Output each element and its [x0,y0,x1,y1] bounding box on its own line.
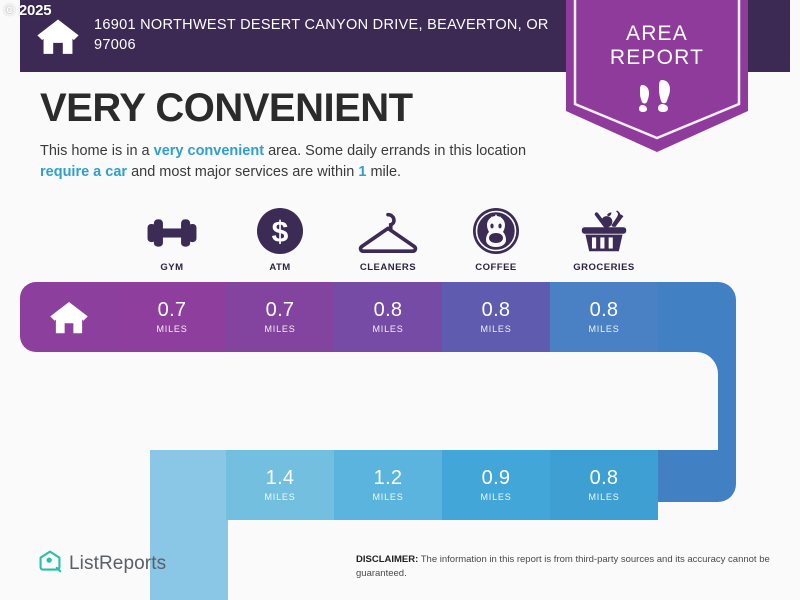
description-text: This home is in a very convenient area. … [40,141,570,184]
badge-line-2: REPORT [610,46,704,70]
property-address: 16901 NORTHWEST DESERT CANYON DRIVE, BEA… [94,16,554,55]
amenity-label: GROCERIES [573,262,635,273]
home-icon [36,14,80,58]
distance-unit: MILES [372,492,403,502]
listreports-logo-icon [38,549,62,578]
distance-unit: MILES [480,492,511,502]
distance-cell-groceries: 0.8 MILES [550,282,658,352]
desc-part-4: mile. [366,164,401,180]
desc-part-2: area. Some daily errands in this locatio… [264,143,526,159]
distance-unit: MILES [480,324,511,334]
hanger-icon [357,203,419,255]
amenity-label: GYM [160,262,183,273]
disclaimer-label: DISCLAIMER: [356,554,418,565]
page-title: VERY CONVENIENT [40,86,413,131]
distance-cell-movie-theater: 1.2 MILES [334,450,442,520]
badge-line-1: AREA [610,22,704,46]
distance-value: 0.8 [590,300,619,320]
amenity-cleaners: CLEANERS [334,203,442,273]
header-content: 16901 NORTHWEST DESERT CANYON DRIVE, BEA… [20,0,560,72]
distance-unit: MILES [588,492,619,502]
distance-unit: MILES [372,324,403,334]
amenity-icons-row-1: GYM $ ATM CLEANERS [118,203,658,273]
home-marker-segment [20,282,118,352]
amenity-label: COFFEE [475,262,517,273]
desc-part-3: and most major services are within [127,164,358,180]
amenity-label: CLEANERS [360,262,416,273]
row2-lead-segment [150,450,226,520]
distance-value: 0.9 [482,468,511,488]
distance-value: 0.8 [374,300,403,320]
distance-value: 1.2 [374,468,403,488]
dumbbell-icon [143,203,201,255]
desc-part-1: This home is in a [40,143,154,159]
distance-value: 1.4 [266,468,295,488]
amenity-coffee: COFFEE [442,203,550,273]
distance-cell-coffee: 0.8 MILES [442,282,550,352]
desc-highlight-2: require a car [40,164,127,180]
distance-cell-pharmacy: 0.8 MILES [550,450,658,520]
distance-cell-gas: 1.4 MILES [226,450,334,520]
amenity-label: ATM [269,262,290,273]
home-icon [49,297,89,337]
distance-unit: MILES [264,324,295,334]
amenity-atm: $ ATM [226,203,334,273]
distance-value: 0.7 [158,300,187,320]
area-report-badge: AREA REPORT [566,0,748,152]
footprints-icon [634,79,680,118]
distance-value: 0.7 [266,300,295,320]
distance-cell-atm: 0.7 MILES [226,282,334,352]
distance-unit: MILES [264,492,295,502]
distance-unit: MILES [588,324,619,334]
disclaimer: DISCLAIMER: The information in this repo… [356,553,776,582]
distance-cell-medical: 0.9 MILES [442,450,550,520]
distance-row-1: 0.7 MILES 0.7 MILES 0.8 MILES 0.8 MILES … [20,282,658,352]
distance-value: 0.8 [482,300,511,320]
dollar-circle-icon: $ [256,203,304,255]
disclaimer-text: The information in this report is from t… [356,554,770,579]
distance-cell-cleaners: 0.8 MILES [334,282,442,352]
distance-value: 0.8 [590,468,619,488]
distance-cell-gym: 0.7 MILES [118,282,226,352]
copyright-text: © 2025 [4,2,51,19]
desc-highlight-1: very convenient [154,143,264,159]
basket-icon [576,203,632,255]
amenity-groceries: GROCERIES [550,203,658,273]
svg-text:$: $ [272,216,289,249]
ribbon-notch-upper [150,352,718,450]
starbucks-icon [472,203,520,255]
distance-row-2: 1.4 MILES 1.2 MILES 0.9 MILES 0.8 MILES [150,450,658,520]
badge-title: AREA REPORT [610,22,704,69]
amenity-gym: GYM [118,203,226,273]
brand-name: ListReports [69,553,166,575]
listreports-brand: ListReports [38,549,166,578]
distance-unit: MILES [156,324,187,334]
